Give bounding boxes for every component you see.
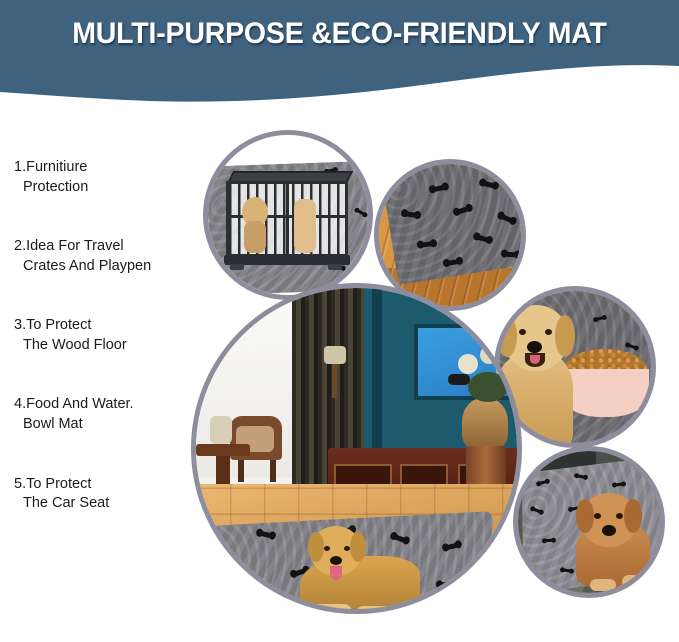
list-item-car-seat: 5.To Protect The Car Seat — [14, 475, 204, 514]
feature-5-subtext: The Car Seat — [14, 494, 204, 514]
food-bowl-scene — [499, 291, 651, 443]
feature-2-number: 2. — [14, 238, 26, 254]
list-item-furniture-protection: 1.Furnitiure Protection 1.Furnitiure Pro… — [14, 158, 204, 197]
feature-3-text: To Protect — [26, 317, 91, 333]
list-item-food-water-bowl: 4.Food And Water. Bowl Mat — [14, 395, 204, 434]
product-infographic: MULTI-PURPOSE &ECO-FRIENDLY MAT 1.Furnit… — [0, 0, 679, 642]
photo-circle-living-room — [191, 283, 522, 614]
list-item-travel-crates: 2.Idea For Travel Crates And Playpen — [14, 237, 204, 276]
photo-circle-car-seat — [513, 446, 665, 598]
feature-1-subtext: Protection — [14, 178, 204, 198]
feature-4-subtext: Bowl Mat — [14, 415, 204, 435]
feature-1-text: Furnitiure — [26, 159, 87, 175]
feature-3-number: 3. — [14, 317, 26, 333]
feature-4-title: 4.Food And Water. — [14, 395, 204, 415]
feature-2-subtext: Crates And Playpen — [14, 257, 204, 277]
crate-scene — [208, 135, 368, 295]
flower-vase — [462, 398, 508, 450]
mat-surface — [379, 164, 521, 285]
feature-1-title: 1.Furnitiure — [14, 158, 204, 178]
feature-list: 1.Furnitiure Protection 1.Furnitiure Pro… — [14, 158, 204, 554]
list-item-wood-floor: 3.To Protect The Wood Floor — [14, 316, 204, 355]
feature-4-number: 4. — [14, 396, 26, 412]
feature-3-subtext: The Wood Floor — [14, 336, 204, 356]
feature-2-title: 2.Idea For Travel — [14, 237, 204, 257]
header-banner: MULTI-PURPOSE &ECO-FRIENDLY MAT — [0, 0, 679, 112]
photo-circle-crate — [203, 130, 373, 300]
wood-floor-scene — [379, 164, 521, 306]
feature-2-text: Idea For Travel — [26, 238, 124, 254]
dog-tongue — [330, 566, 342, 580]
feature-5-title: 5.To Protect — [14, 475, 204, 495]
feature-5-text: To Protect — [26, 476, 91, 492]
page-title: MULTI-PURPOSE &ECO-FRIENDLY MAT — [17, 17, 662, 51]
feature-3-title: 3.To Protect — [14, 316, 204, 336]
feature-4-text: Food And Water. — [26, 396, 133, 412]
feature-1-number: 1. — [14, 159, 26, 175]
living-room-scene — [196, 288, 517, 609]
feature-5-number: 5. — [14, 476, 26, 492]
food-bowl — [561, 369, 649, 417]
car-seat-scene — [518, 451, 660, 593]
